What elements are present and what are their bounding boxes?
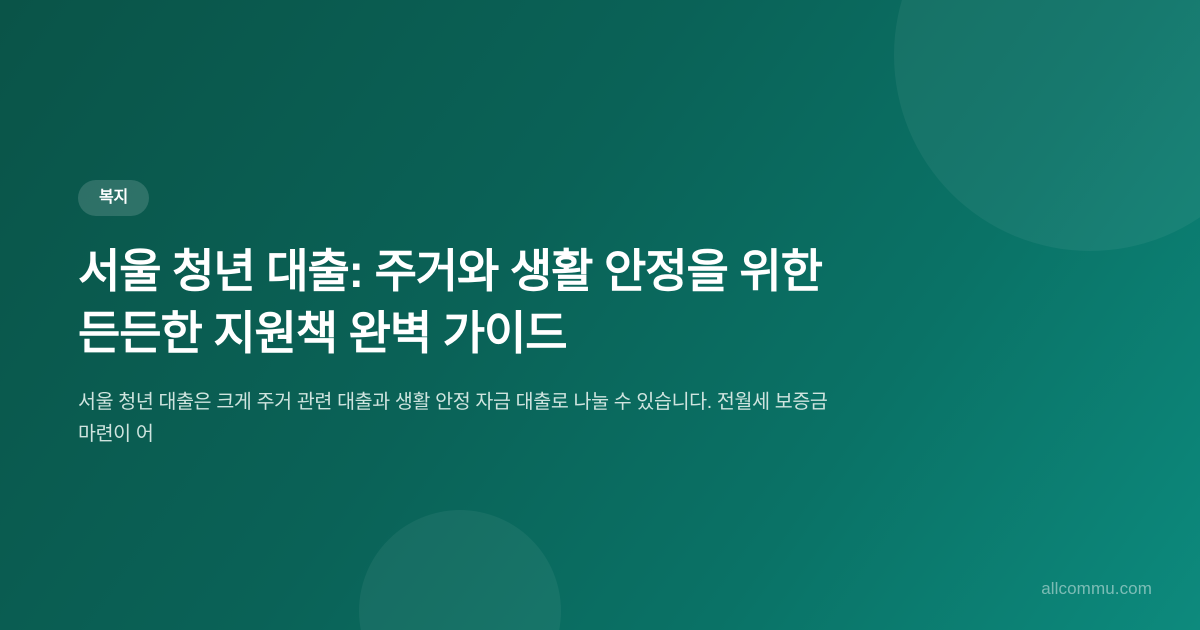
decorative-circle-top-right	[894, 0, 1200, 251]
site-watermark: allcommu.com	[1041, 580, 1152, 597]
og-card: 복지 서울 청년 대출: 주거와 생활 안정을 위한 든든한 지원책 완벽 가이…	[0, 0, 1200, 630]
page-description: 서울 청년 대출은 크게 주거 관련 대출과 생활 안정 자금 대출로 나눌 수…	[78, 387, 884, 450]
card-content: 복지 서울 청년 대출: 주거와 생활 안정을 위한 든든한 지원책 완벽 가이…	[78, 0, 898, 630]
category-badge: 복지	[78, 180, 149, 216]
page-title: 서울 청년 대출: 주거와 생활 안정을 위한 든든한 지원책 완벽 가이드	[78, 240, 898, 365]
